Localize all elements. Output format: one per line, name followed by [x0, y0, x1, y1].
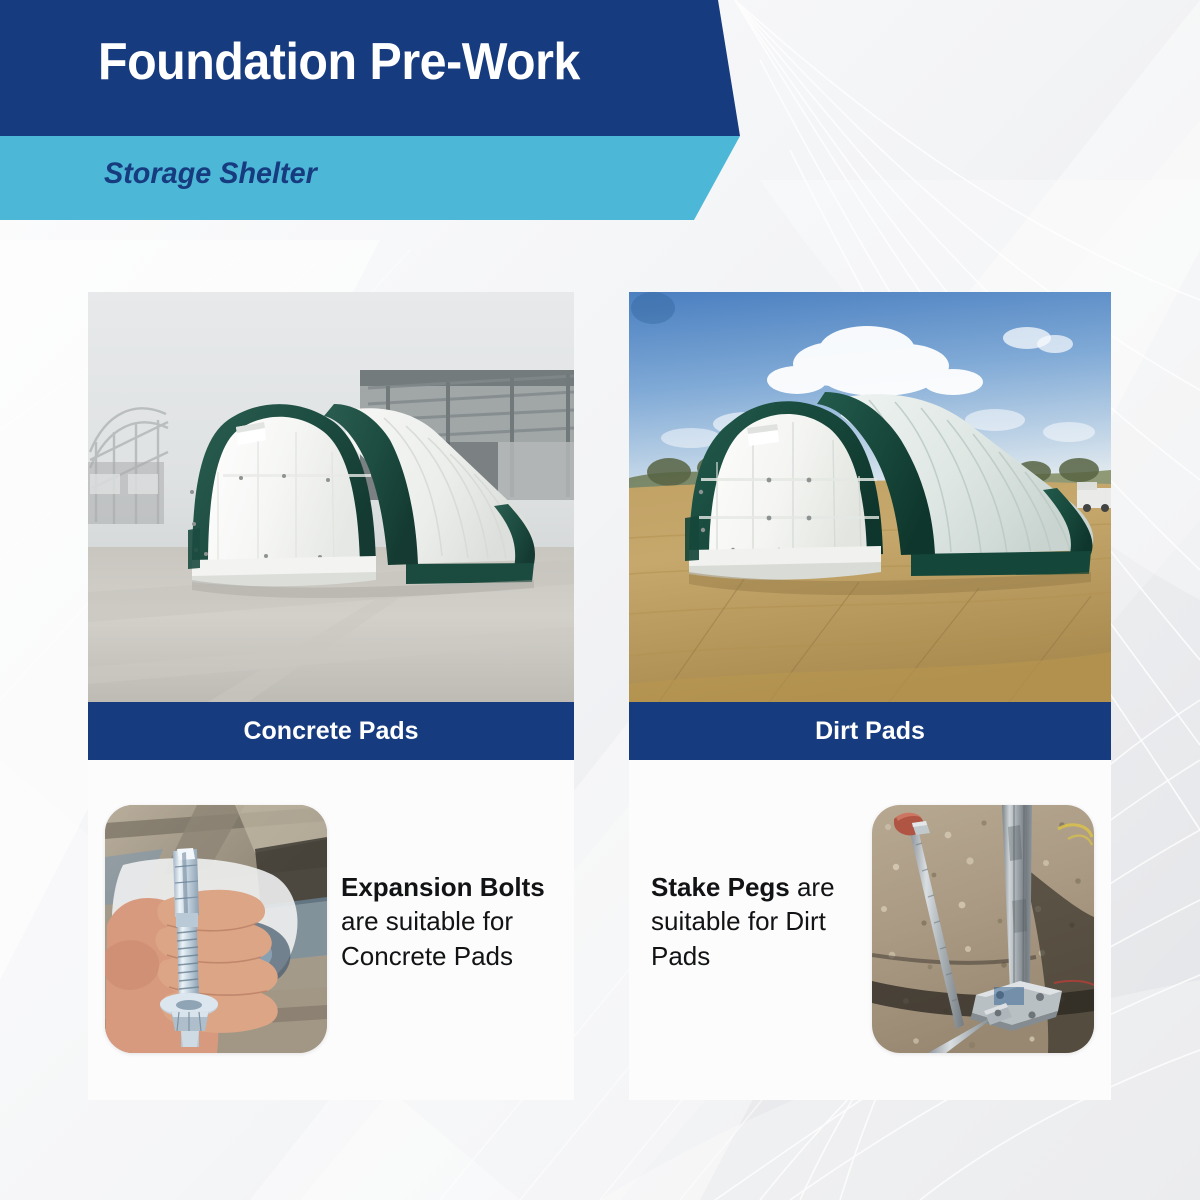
detail-text-dirt: Stake Pegs are suitable for Dirt Pads — [651, 870, 866, 973]
detail-rest-concrete: are suitable for Concrete Pads — [341, 906, 513, 970]
detail-bold-concrete: Expansion Bolts — [341, 872, 545, 902]
page-title: Foundation Pre-Work — [98, 32, 580, 92]
caption-concrete-pads: Concrete Pads — [88, 702, 574, 760]
infographic-canvas: Foundation Pre-Work Storage Shelter — [0, 0, 1200, 1200]
detail-row-concrete: Expansion Bolts are suitable for Concret… — [88, 795, 574, 1065]
photo-expansion-bolt — [105, 805, 327, 1053]
detail-bold-dirt: Stake Pegs — [651, 872, 790, 902]
photo-concrete-shelter — [88, 292, 574, 702]
photo-dirt-shelter — [629, 292, 1111, 702]
page-subtitle: Storage Shelter — [104, 157, 317, 191]
photo-stake-peg — [872, 805, 1094, 1053]
caption-dirt-pads: Dirt Pads — [629, 702, 1111, 760]
detail-row-dirt: Stake Pegs are suitable for Dirt Pads — [629, 795, 1111, 1065]
detail-text-concrete: Expansion Bolts are suitable for Concret… — [341, 870, 563, 973]
